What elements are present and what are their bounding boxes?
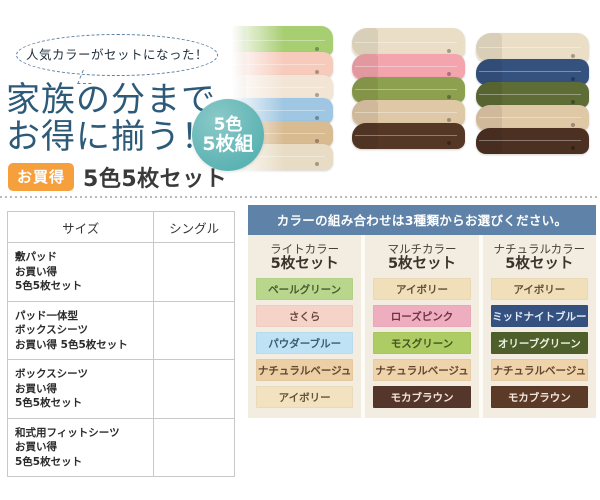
color-set-title-line-2: 5枚セット xyxy=(373,256,470,273)
table-row: ボックスシーツお買い得5色5枚セット xyxy=(8,360,235,419)
five-color-circle-badge: 5色 5枚組 xyxy=(192,99,264,171)
table-row: 和式用フィットシーツお買い得5色5枚セット xyxy=(8,418,235,477)
color-set-title-line-2: 5枚セット xyxy=(256,256,353,273)
blanket-ivory xyxy=(476,33,589,62)
blanket-stack-multi xyxy=(352,28,465,149)
color-set-title-line-1: ライトカラー xyxy=(256,242,353,256)
color-set-column: ライトカラー5枚セットペールグリーンさくらパウダーブルーナチュラルベージュアイボ… xyxy=(248,235,361,418)
hero-banner: 人気カラーがセットになった！ 家族の分まで お得に揃う！ お買得 5色5枚セット… xyxy=(0,0,600,196)
speech-bubble: 人気カラーがセットになった！ xyxy=(16,34,218,76)
color-swatch: アイボリー xyxy=(256,386,353,408)
headline: 家族の分まで お得に揃う！ xyxy=(6,82,216,156)
color-swatch: ミッドナイトブルー xyxy=(491,305,588,327)
blanket-ivory xyxy=(352,28,465,57)
color-set-title-line-1: マルチカラー xyxy=(373,242,470,256)
color-swatch: ナチュラルベージュ xyxy=(491,359,588,381)
size-row-label: 敷パッドお買い得5色5枚セット xyxy=(8,243,154,302)
headline-line-1: 家族の分まで xyxy=(6,82,216,119)
lower-section: サイズ シングル 敷パッドお買い得5色5枚セットパッド一体型ボックスシーツお買い… xyxy=(0,203,600,500)
blanket-stack-natural xyxy=(476,33,589,154)
color-panel-heading: カラーの組み合わせは3種類からお選びください。 xyxy=(248,205,596,235)
table-row: 敷パッドお買い得5色5枚セット xyxy=(8,243,235,302)
color-swatch: モカブラウン xyxy=(373,386,470,408)
size-row-single-value xyxy=(154,301,235,360)
headline-line-2: お得に揃う！ xyxy=(6,119,216,156)
size-row-single-value xyxy=(154,360,235,419)
circle-badge-line-2: 5枚組 xyxy=(192,134,264,155)
color-swatch: オリーブグリーン xyxy=(491,332,588,354)
size-row-label: ボックスシーツお買い得5色5枚セット xyxy=(8,360,154,419)
color-swatch: ローズピンク xyxy=(373,305,470,327)
blanket-mocha-brown xyxy=(476,128,589,154)
color-set-column: マルチカラー5枚セットアイボリーローズピンクモスグリーンナチュラルベージュモカブ… xyxy=(365,235,478,418)
set-label-row: お買得 5色5枚セット xyxy=(8,161,227,193)
color-panel-columns: ライトカラー5枚セットペールグリーンさくらパウダーブルーナチュラルベージュアイボ… xyxy=(248,235,596,418)
table-header-size: サイズ xyxy=(8,212,154,243)
color-swatch: モスグリーン xyxy=(373,332,470,354)
table-header-row: サイズ シングル xyxy=(8,212,235,243)
color-set-title-line-1: ナチュラルカラー xyxy=(491,242,588,256)
set-label: 5色5枚セット xyxy=(83,161,227,193)
color-set-column: ナチュラルカラー5枚セットアイボリーミッドナイトブルーオリーブグリーンナチュラル… xyxy=(483,235,596,418)
size-row-label: パッド一体型ボックスシーツお買い得 5色5枚セット xyxy=(8,301,154,360)
color-set-title-line-2: 5枚セット xyxy=(491,256,588,273)
color-swatch: ナチュラルベージュ xyxy=(256,359,353,381)
color-swatch: モカブラウン xyxy=(491,386,588,408)
blanket-mocha-brown xyxy=(352,123,465,149)
size-row-single-value xyxy=(154,243,235,302)
size-row-single-value xyxy=(154,418,235,477)
table-row: パッド一体型ボックスシーツお買い得 5色5枚セット xyxy=(8,301,235,360)
color-combination-panel: カラーの組み合わせは3種類からお選びください。 ライトカラー5枚セットペールグリ… xyxy=(248,205,596,418)
bargain-badge: お買得 xyxy=(8,163,74,191)
color-swatch: アイボリー xyxy=(373,278,470,300)
section-divider xyxy=(0,196,600,198)
size-row-label: 和式用フィットシーツお買い得5色5枚セット xyxy=(8,418,154,477)
size-table: サイズ シングル 敷パッドお買い得5色5枚セットパッド一体型ボックスシーツお買い… xyxy=(7,211,235,477)
table-header-single: シングル xyxy=(154,212,235,243)
size-table-wrap: サイズ シングル 敷パッドお買い得5色5枚セットパッド一体型ボックスシーツお買い… xyxy=(7,211,235,477)
circle-badge-line-1: 5色 xyxy=(192,116,264,134)
color-swatch: アイボリー xyxy=(491,278,588,300)
color-swatch: さくら xyxy=(256,305,353,327)
color-swatch: ペールグリーン xyxy=(256,278,353,300)
product-photo xyxy=(214,0,600,196)
color-swatch: ナチュラルベージュ xyxy=(373,359,470,381)
color-swatch: パウダーブルー xyxy=(256,332,353,354)
size-table-body: 敷パッドお買い得5色5枚セットパッド一体型ボックスシーツお買い得 5色5枚セット… xyxy=(8,243,235,477)
speech-bubble-text: 人気カラーがセットになった！ xyxy=(17,44,217,63)
product-page: 人気カラーがセットになった！ 家族の分まで お得に揃う！ お買得 5色5枚セット… xyxy=(0,0,600,500)
